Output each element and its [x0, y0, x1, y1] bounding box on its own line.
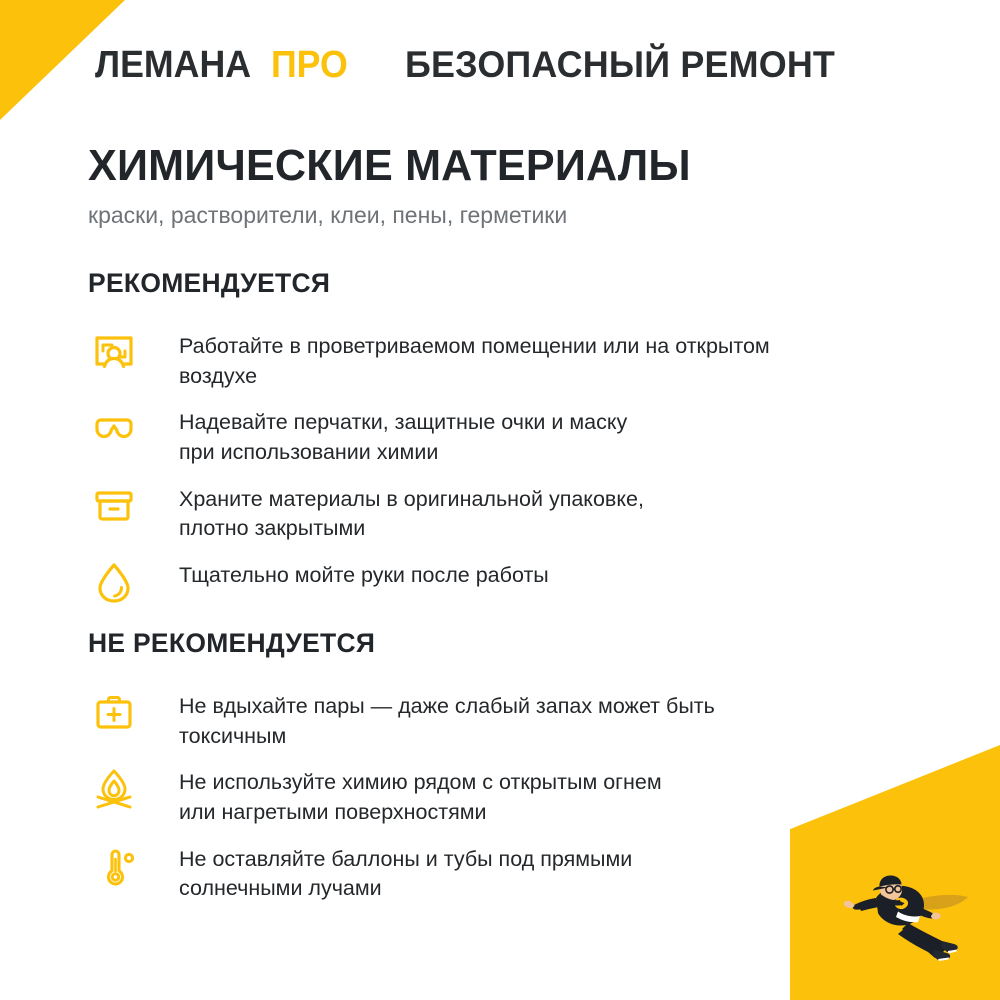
recommended-item-list: Работайте в проветриваемом помещении или…	[88, 325, 940, 620]
not-recommended-item-list: Не вдыхайте пары — даже слабый запах мож…	[88, 685, 940, 914]
first-aid-kit-icon	[88, 685, 144, 741]
safety-goggles-icon	[88, 401, 144, 457]
list-item-label: Не используйте химию рядом с открытым ог…	[179, 761, 662, 827]
section-not-recommended: НЕ РЕКОМЕНДУЕТСЯ Не вдыхайте пары — даже…	[88, 628, 940, 914]
lemana-pro-logo: ЛЕМАНА ПРО	[95, 44, 353, 87]
list-item: Надевайте перчатки, защитные очки и маск…	[88, 401, 940, 467]
water-drop-icon	[88, 554, 144, 610]
storage-box-icon	[88, 478, 144, 534]
flying-superhero-mascot	[830, 855, 980, 965]
poster-canvas: ЛЕМАНА ПРО БЕЗОПАСНЫЙ РЕМОНТ ХИМИЧЕСКИЕ …	[0, 0, 1000, 1000]
logo-word-lemana: ЛЕМАНА	[95, 44, 251, 87]
list-item: Не вдыхайте пары — даже слабый запах мож…	[88, 685, 940, 751]
list-item-label: Тщательно мойте руки после работы	[179, 554, 549, 591]
page-subtitle: краски, растворители, клеи, пены, гермет…	[88, 202, 930, 230]
list-item: Не используйте химию рядом с открытым ог…	[88, 761, 940, 827]
logo-word-pro: ПРО	[271, 44, 348, 87]
header-tagline: БЕЗОПАСНЫЙ РЕМОНТ	[405, 44, 835, 86]
section-recommended: РЕКОМЕНДУЕТСЯ Работайте в проветриваемом…	[88, 268, 940, 620]
list-item: Работайте в проветриваемом помещении или…	[88, 325, 940, 391]
list-item: Тщательно мойте руки после работы	[88, 554, 940, 610]
open-window-ventilation-icon	[88, 325, 144, 381]
section-heading-recommended: РЕКОМЕНДУЕТСЯ	[88, 268, 923, 299]
list-item: Храните материалы в оригинальной упаковк…	[88, 478, 940, 544]
list-item-label: Работайте в проветриваемом помещении или…	[179, 325, 770, 391]
list-item-label: Храните материалы в оригинальной упаковк…	[179, 478, 644, 544]
title-block: ХИМИЧЕСКИЕ МАТЕРИАЛЫ краски, растворител…	[88, 143, 930, 230]
page-title: ХИМИЧЕСКИЕ МАТЕРИАЛЫ	[88, 143, 913, 189]
list-item-label: Надевайте перчатки, защитные очки и маск…	[179, 401, 627, 467]
section-heading-not-recommended: НЕ РЕКОМЕНДУЕТСЯ	[88, 628, 923, 659]
campfire-open-flame-icon	[88, 761, 144, 817]
list-item-label: Не оставляйте баллоны и тубы под прямыми…	[179, 838, 632, 904]
thermometer-sun-icon	[88, 838, 144, 894]
list-item-label: Не вдыхайте пары — даже слабый запах мож…	[179, 685, 715, 751]
poster-header: ЛЕМАНА ПРО БЕЗОПАСНЫЙ РЕМОНТ	[95, 36, 940, 94]
list-item: Не оставляйте баллоны и тубы под прямыми…	[88, 838, 940, 904]
